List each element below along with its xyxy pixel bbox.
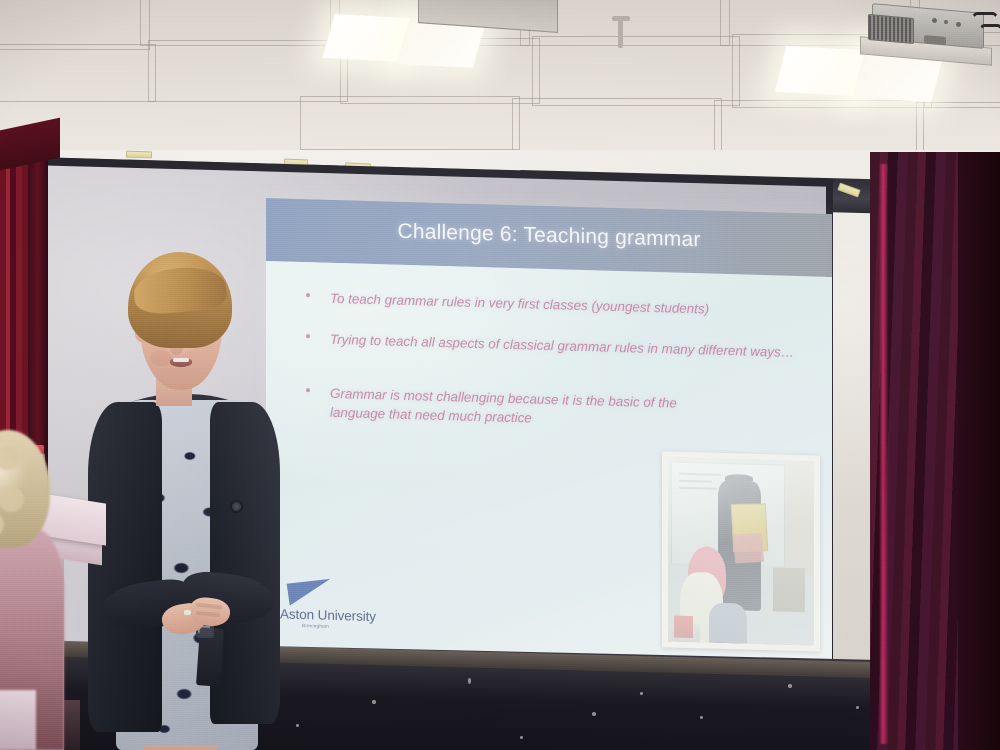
slide-bullet-item: Trying to teach all aspects of classical… bbox=[288, 329, 808, 363]
brooch-icon bbox=[230, 500, 243, 513]
slide-embedded-photo bbox=[662, 451, 820, 651]
logo-name: Aston University bbox=[280, 606, 376, 624]
bullet-dot-icon bbox=[306, 335, 310, 339]
ceiling bbox=[0, 0, 1000, 175]
ceiling-light-panel bbox=[322, 14, 409, 62]
projector-cable bbox=[978, 24, 1000, 46]
projector-vent-icon bbox=[868, 14, 914, 44]
masking-tape bbox=[126, 151, 152, 159]
triangle-icon bbox=[287, 579, 334, 606]
logo-subtitle: Birmingham bbox=[302, 623, 329, 629]
slide-bullet-text: Grammar is most challenging because it i… bbox=[330, 386, 677, 426]
slide-bullet-item: Grammar is most challenging because it i… bbox=[288, 382, 688, 432]
bullet-dot-icon bbox=[306, 293, 310, 297]
ceiling-projector bbox=[866, 2, 998, 64]
slide-body: To teach grammar rules in very first cla… bbox=[266, 261, 832, 666]
ring-icon bbox=[184, 610, 191, 615]
slide-bullet-text: To teach grammar rules in very first cla… bbox=[330, 291, 709, 317]
aston-university-logo: Aston University Birmingham bbox=[280, 580, 412, 638]
presentation-photo: Challenge 6: Teaching grammar To teach g… bbox=[0, 0, 1000, 750]
bullet-dot-icon bbox=[306, 388, 310, 392]
projected-slide: Challenge 6: Teaching grammar To teach g… bbox=[266, 198, 832, 666]
slide-bullet-item: To teach grammar rules in very first cla… bbox=[288, 288, 808, 322]
presenter bbox=[78, 252, 278, 750]
ceiling-light-panel bbox=[775, 46, 865, 96]
ceiling-pipe bbox=[618, 18, 623, 48]
presenter-legs bbox=[144, 746, 218, 750]
slide-bullet-text: Trying to teach all aspects of classical… bbox=[330, 332, 794, 360]
presenter-cardigan-left bbox=[88, 402, 162, 732]
foreground-object bbox=[0, 690, 36, 750]
curtain-right-dark-edge bbox=[958, 152, 1000, 750]
ceiling-pipe-bracket bbox=[612, 16, 630, 21]
slide-bullet-list: To teach grammar rules in very first cla… bbox=[288, 288, 808, 458]
curtain-highlight bbox=[879, 164, 888, 744]
